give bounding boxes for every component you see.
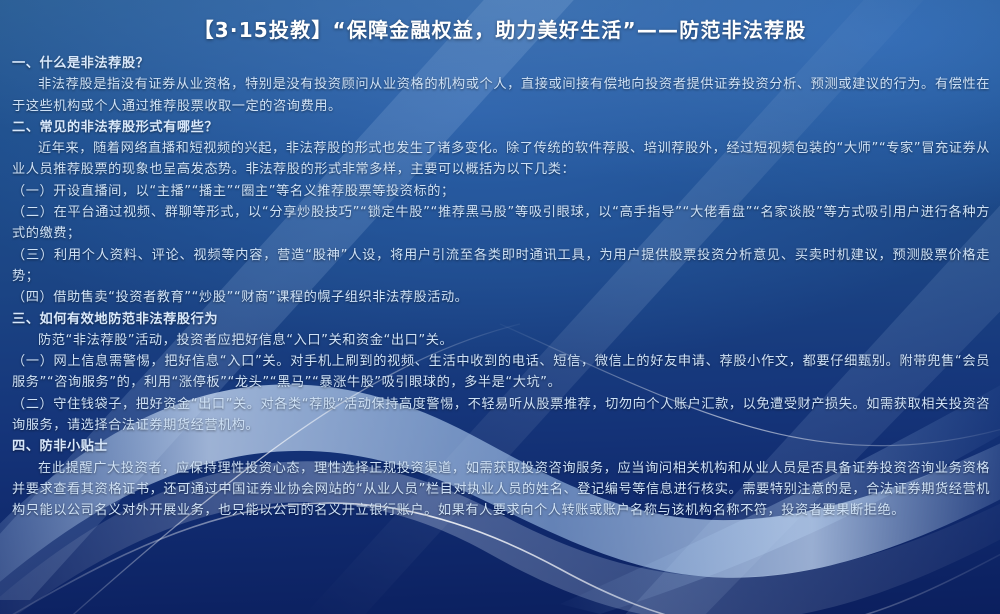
section-3-item-1: （一）网上信息需警惕，把好信息“入口”关。对手机上刷到的视频、生活中收到的电话、…	[12, 351, 990, 394]
section-2-item-3: （三）利用个人资料、评论、视频等内容，营造“股神”人设，将用户引流至各类即时通讯…	[12, 245, 990, 288]
poster-canvas: 【3·15投教】“保障金融权益，助力美好生活”——防范非法荐股 一、什么是非法荐…	[0, 0, 1000, 614]
section-1-paragraph-1: 非法荐股是指没有证券从业资格，特别是没有投资顾问从业资格的机构或个人，直接或间接…	[12, 74, 990, 117]
section-2-item-4: （四）借助售卖“投资者教育”“炒股”“财商”课程的幌子组织非法荐股活动。	[12, 287, 990, 308]
section-2-item-1: （一）开设直播间，以“主播”“播主”“圈主”等名义推荐股票等投资标的；	[12, 181, 990, 202]
section-4-heading: 四、防非小贴士	[12, 436, 990, 457]
section-3-heading: 三、如何有效地防范非法荐股行为	[12, 309, 990, 330]
section-4-paragraph-1: 在此提醒广大投资者，应保持理性投资心态，理性选择正规投资渠道，如需获取投资咨询服…	[12, 458, 990, 522]
section-3-paragraph-1: 防范“非法荐股”活动，投资者应把好信息“入口”关和资金“出口”关。	[12, 330, 990, 351]
section-1: 一、什么是非法荐股？ 非法荐股是指没有证券从业资格，特别是没有投资顾问从业资格的…	[12, 53, 990, 117]
title-container: 【3·15投教】“保障金融权益，助力美好生活”——防范非法荐股	[0, 14, 1000, 43]
section-4: 四、防非小贴士 在此提醒广大投资者，应保持理性投资心态，理性选择正规投资渠道，如…	[12, 436, 990, 521]
document-body: 一、什么是非法荐股？ 非法荐股是指没有证券从业资格，特别是没有投资顾问从业资格的…	[12, 53, 990, 522]
section-2-item-2: （二）在平台通过视频、群聊等形式，以“分享炒股技巧”“锁定牛股”“推荐黑马股”等…	[12, 202, 990, 245]
section-2: 二、常见的非法荐股形式有哪些？ 近年来，随着网络直播和短视频的兴起，非法荐股的形…	[12, 117, 990, 309]
section-2-paragraph-1: 近年来，随着网络直播和短视频的兴起，非法荐股的形式也发生了诸多变化。除了传统的软…	[12, 138, 990, 181]
section-2-heading: 二、常见的非法荐股形式有哪些？	[12, 117, 990, 138]
section-3: 三、如何有效地防范非法荐股行为 防范“非法荐股”活动，投资者应把好信息“入口”关…	[12, 309, 990, 437]
section-1-heading: 一、什么是非法荐股？	[12, 53, 990, 74]
section-3-item-2: （二）守住钱袋子，把好资金“出口”关。对各类“荐股”活动保持高度警惕，不轻易听从…	[12, 394, 990, 437]
page-title: 【3·15投教】“保障金融权益，助力美好生活”——防范非法荐股	[194, 14, 807, 43]
